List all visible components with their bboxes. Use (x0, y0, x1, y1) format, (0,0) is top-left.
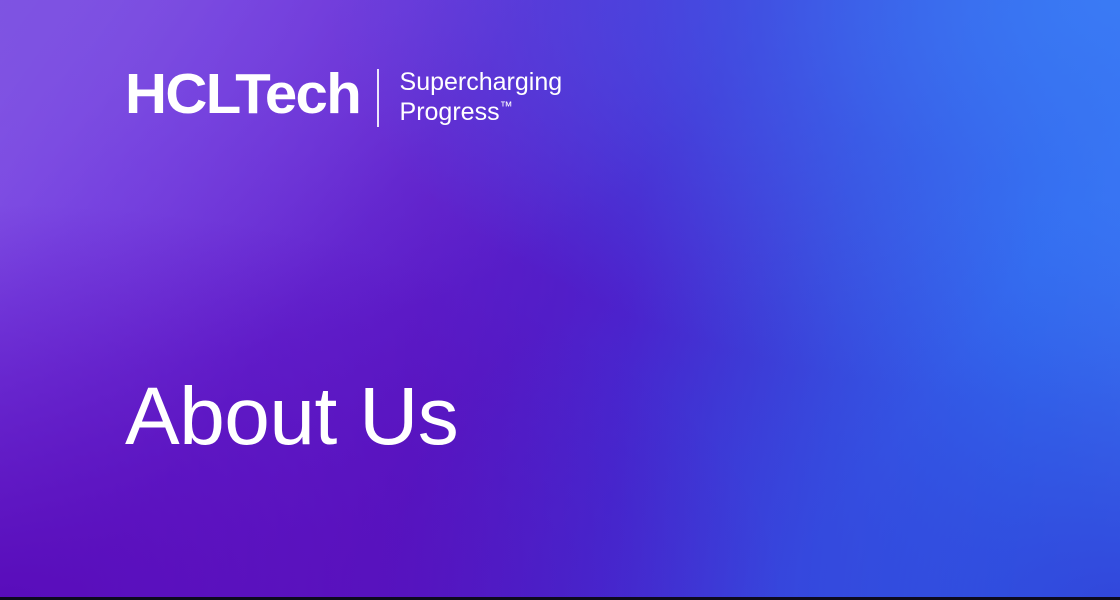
hcltech-wordmark: HCLTech (125, 63, 360, 125)
slide-canvas: HCLTech Supercharging Progress™ About Us (0, 0, 1120, 600)
tagline-line-1: Supercharging (400, 68, 563, 96)
slide-content: HCLTech Supercharging Progress™ About Us (0, 0, 1120, 600)
logo-divider-line (377, 69, 379, 127)
hcltech-logo[interactable]: HCLTech Supercharging Progress™ (125, 63, 562, 127)
page-title: About Us (125, 371, 458, 463)
tagline-line-2: Progress (400, 98, 500, 126)
logo-tagline: Supercharging Progress™ (400, 67, 563, 127)
trademark-symbol: ™ (500, 99, 513, 114)
